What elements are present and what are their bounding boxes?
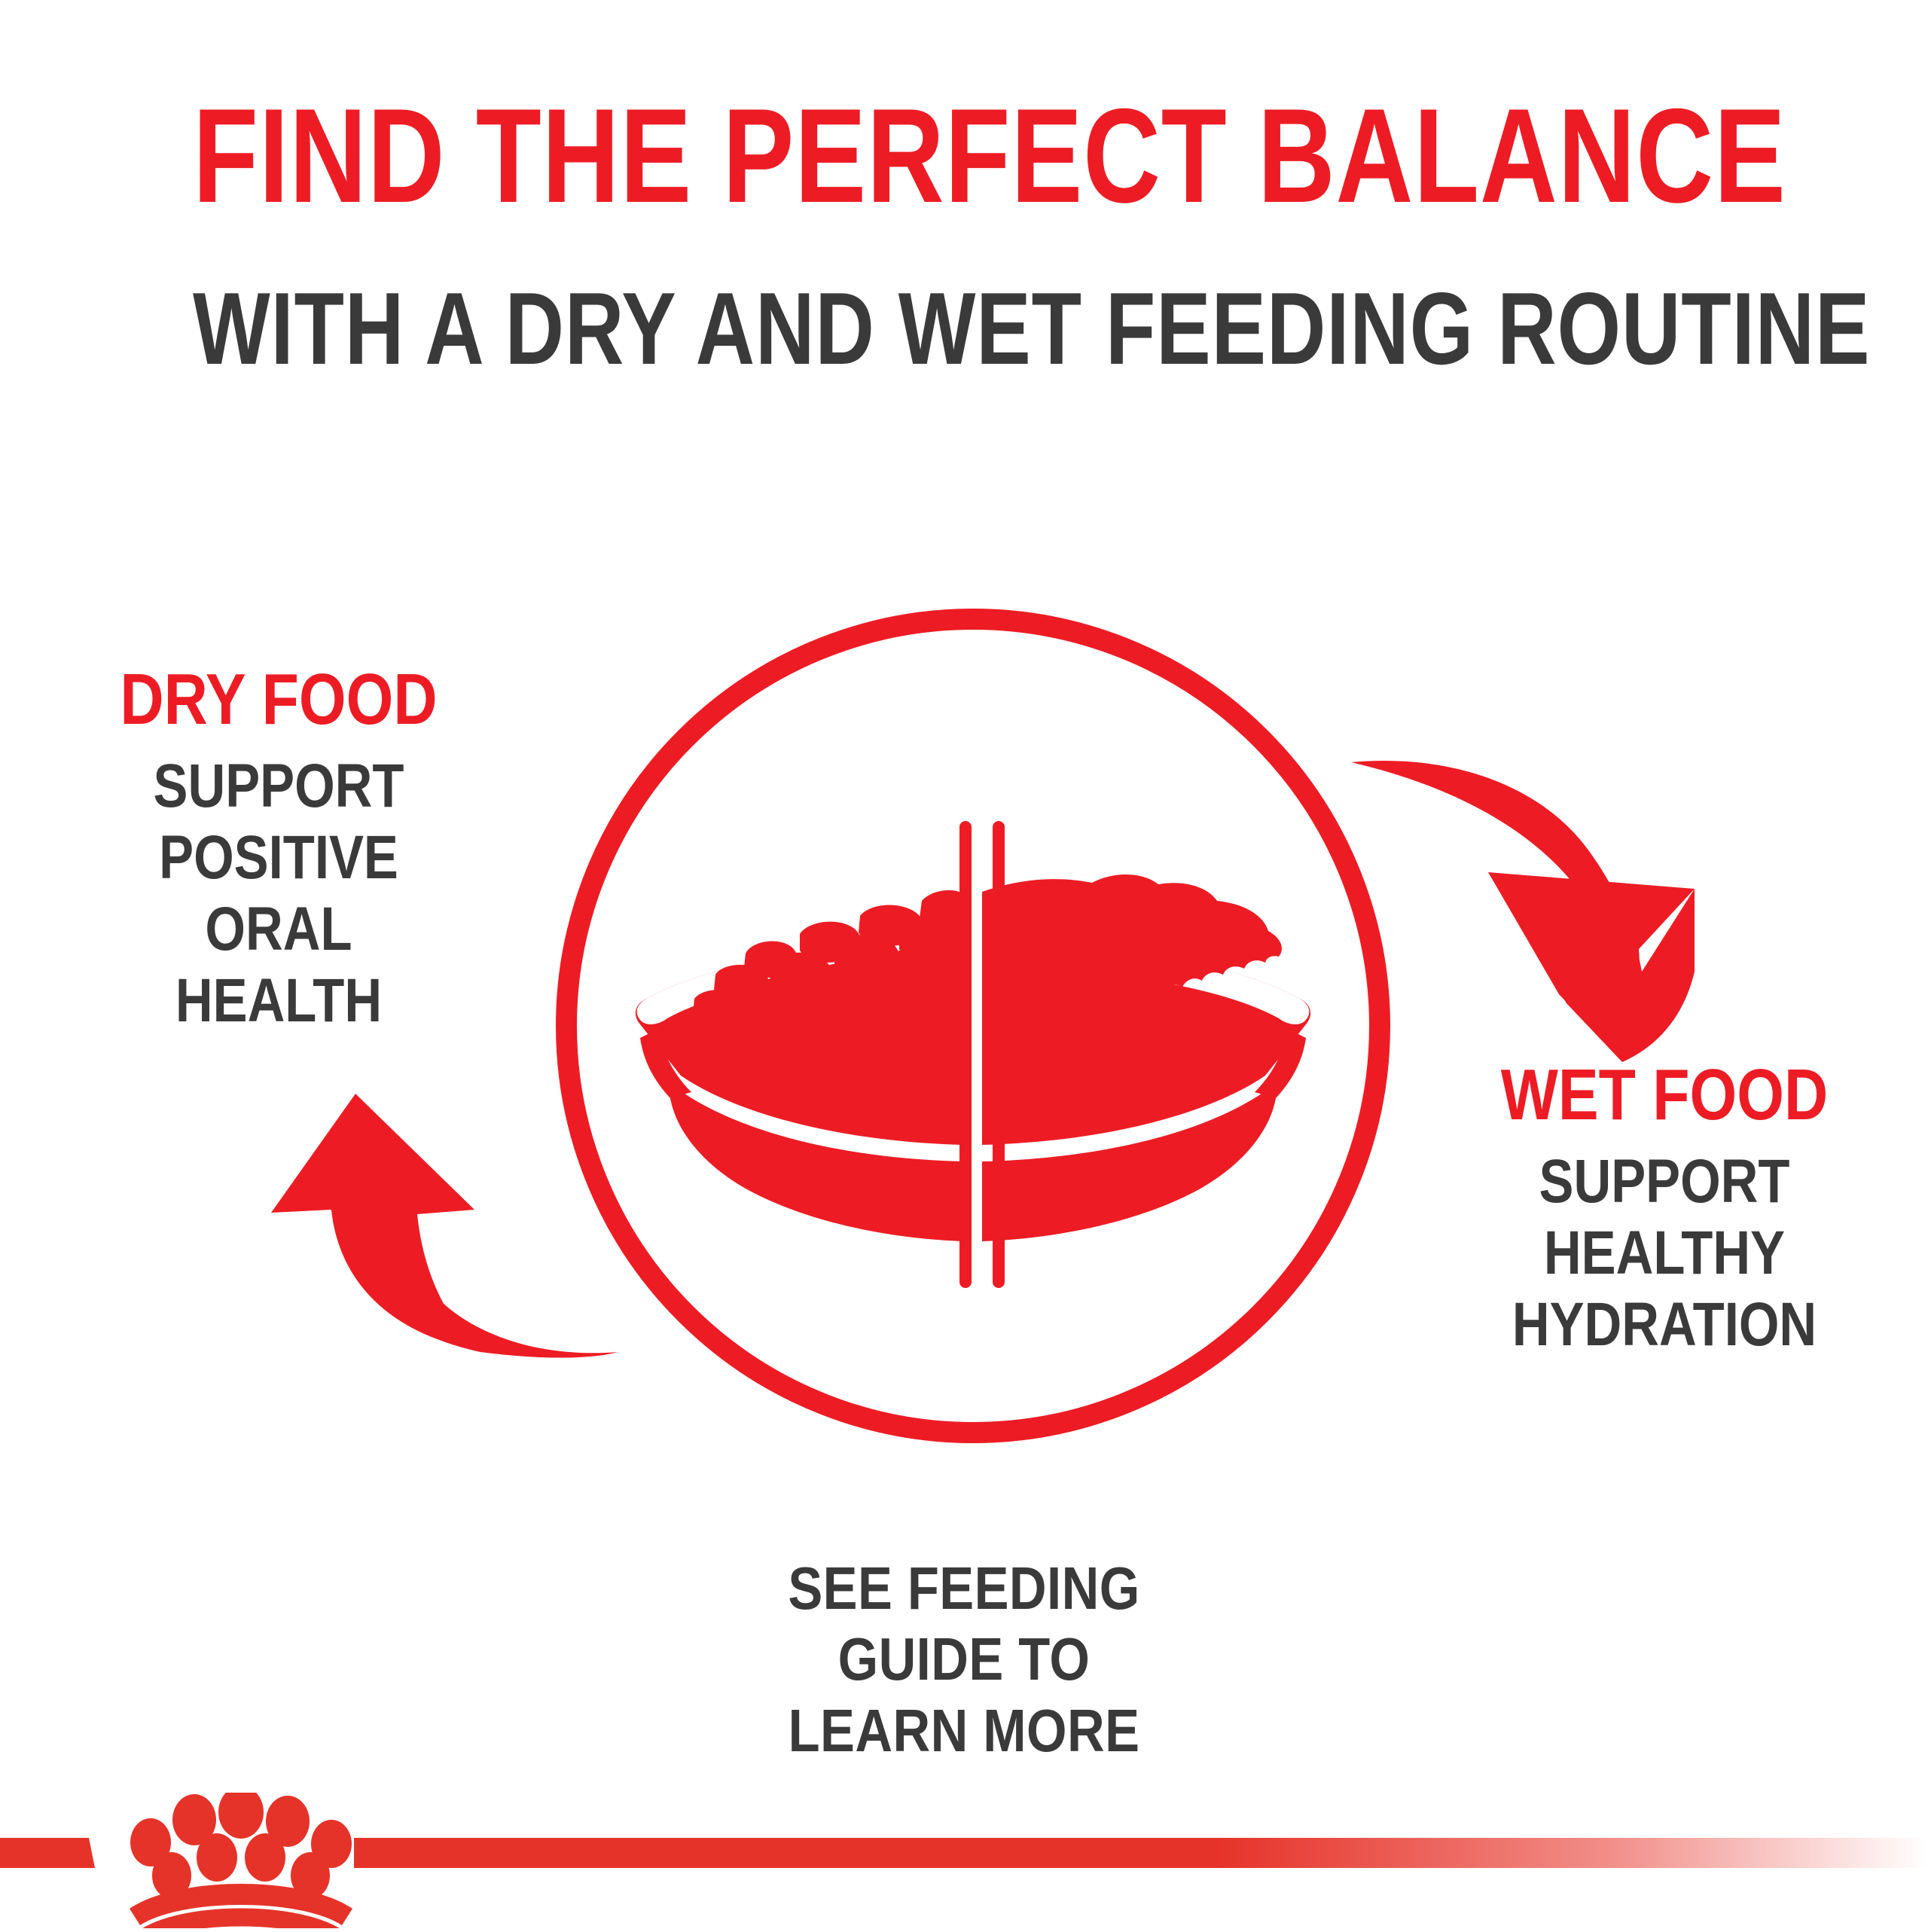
- wet-food-panel: WET FOOD SUPPORT HEALTHY HYDRATION: [1416, 1058, 1913, 1360]
- footer-bar: [0, 1793, 1928, 1928]
- split-pet-food-bowl-in-circle-icon: [520, 572, 1423, 1476]
- royal-canin-crown-paw-logo-icon: [130, 1793, 352, 1928]
- caption-line-1: SEE FEEDING: [135, 1553, 1793, 1624]
- wet-food-title: WET FOOD: [1456, 1058, 1873, 1132]
- wet-food-desc-line2: HYDRATION: [1456, 1289, 1873, 1360]
- page-subtitle: WITH A DRY AND WET FEEDING ROUTINE: [193, 277, 1735, 380]
- caption-line-2: GUIDE TO: [135, 1624, 1793, 1695]
- headline-block: FIND THE PERFECT BALANCE WITH A DRY AND …: [0, 89, 1928, 380]
- page-title: FIND THE PERFECT BALANCE: [193, 89, 1735, 223]
- dry-food-title: DRY FOOD: [83, 663, 475, 737]
- caption-line-3: LEARN MORE: [135, 1695, 1793, 1766]
- dry-food-desc-line2: POSITIVE ORAL: [83, 822, 475, 965]
- dry-food-panel: DRY FOOD SUPPORT POSITIVE ORAL HEALTH: [45, 663, 512, 1036]
- feeding-guide-caption: SEE FEEDING GUIDE TO LEARN MORE: [0, 1553, 1928, 1766]
- curved-arrow-down-right-icon: [1341, 723, 1747, 1062]
- dry-food-desc-line1: SUPPORT: [83, 750, 475, 822]
- wet-food-desc-line1: SUPPORT HEALTHY: [1456, 1146, 1873, 1289]
- infographic-canvas: FIND THE PERFECT BALANCE WITH A DRY AND …: [0, 0, 1928, 1928]
